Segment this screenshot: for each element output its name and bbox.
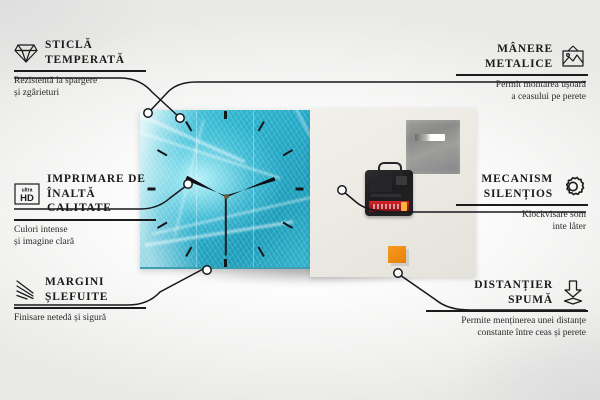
callout-subtitle: Permit montarea ușoară a ceasului pe per… [456, 79, 586, 104]
svg-text:HD: HD [20, 193, 34, 204]
callout-sticla-temperata: STICLĂ TEMPERATĂ Rezistentă la spargere … [14, 38, 144, 100]
callout-title: STICLĂ TEMPERATĂ [45, 38, 125, 67]
callout-title: MECANISM SILENȚIOS [481, 172, 553, 201]
clock-tick-1 [258, 120, 265, 131]
metal-hanger-plate [406, 120, 460, 174]
clock-tick-10 [157, 149, 168, 156]
callout-title: MÂNERE METALICE [485, 42, 553, 71]
polished-edges-icon [14, 279, 38, 301]
callout-title: DISTANȚIER SPUMĂ [474, 278, 553, 307]
clock-tick-3 [296, 187, 304, 190]
callout-margini-slefuite: MARGINI ȘLEFUITE Finisare netedă și sigu… [14, 275, 144, 324]
callout-rule [14, 70, 146, 71]
quartz-movement [365, 170, 413, 216]
callout-subtitle: Culori intense și imagine clară [14, 224, 154, 249]
clock-second-hand [225, 196, 227, 256]
callout-subtitle: Finisare netedă și sigură [14, 312, 144, 324]
clock-back-panel [310, 108, 476, 277]
clock-tick-11 [185, 120, 192, 131]
clock-minute-hand [225, 176, 276, 198]
wall-hanger-icon [560, 45, 586, 69]
callout-rule [426, 310, 588, 311]
gear-icon [560, 174, 586, 199]
callout-rule [456, 204, 588, 205]
clock-tick-6 [224, 259, 227, 267]
clock-tick-5 [258, 246, 265, 257]
callout-subtitle: Permite menținerea unei distanțe constan… [426, 315, 586, 340]
clock-tick-12 [224, 111, 227, 119]
callout-imprimare-calitate: ultra HD IMPRIMARE DE ÎNALTĂ CALITATE Cu… [14, 172, 154, 248]
clock-center-cap [224, 194, 229, 199]
clock-tick-8 [157, 221, 168, 228]
movement-hanger-loop [378, 162, 402, 176]
callout-subtitle: Rezistentă la spargere și zgârieturi [14, 75, 144, 100]
clock-tick-4 [283, 221, 294, 228]
clock-face [140, 110, 310, 267]
foam-spacer [388, 246, 406, 263]
clock-tick-2 [283, 149, 294, 156]
diamond-icon [14, 42, 38, 64]
callout-subtitle: Klockvisare som inte låter [456, 209, 586, 234]
callout-rule [14, 307, 146, 308]
down-arrow-layers-icon [560, 280, 586, 306]
callout-title: MARGINI ȘLEFUITE [45, 275, 108, 304]
callout-rule [14, 219, 156, 220]
callout-title: IMPRIMARE DE ÎNALTĂ CALITATE [47, 172, 154, 216]
clock-tick-7 [185, 246, 192, 257]
callout-rule [456, 74, 588, 75]
battery [369, 201, 409, 212]
callout-manere-metalice: MÂNERE METALICE Permit montarea ușoară a… [456, 42, 586, 104]
infographic-canvas: STICLĂ TEMPERATĂ Rezistentă la spargere … [0, 0, 600, 400]
ultra-hd-icon: ultra HD [14, 183, 40, 205]
callout-distantier-spuma: DISTANȚIER SPUMĂ Permite menținerea unei… [426, 278, 586, 340]
callout-mecanism-silentios: MECANISM SILENȚIOS Klockvisare som inte … [456, 172, 586, 234]
clock-hour-hand [185, 175, 227, 198]
